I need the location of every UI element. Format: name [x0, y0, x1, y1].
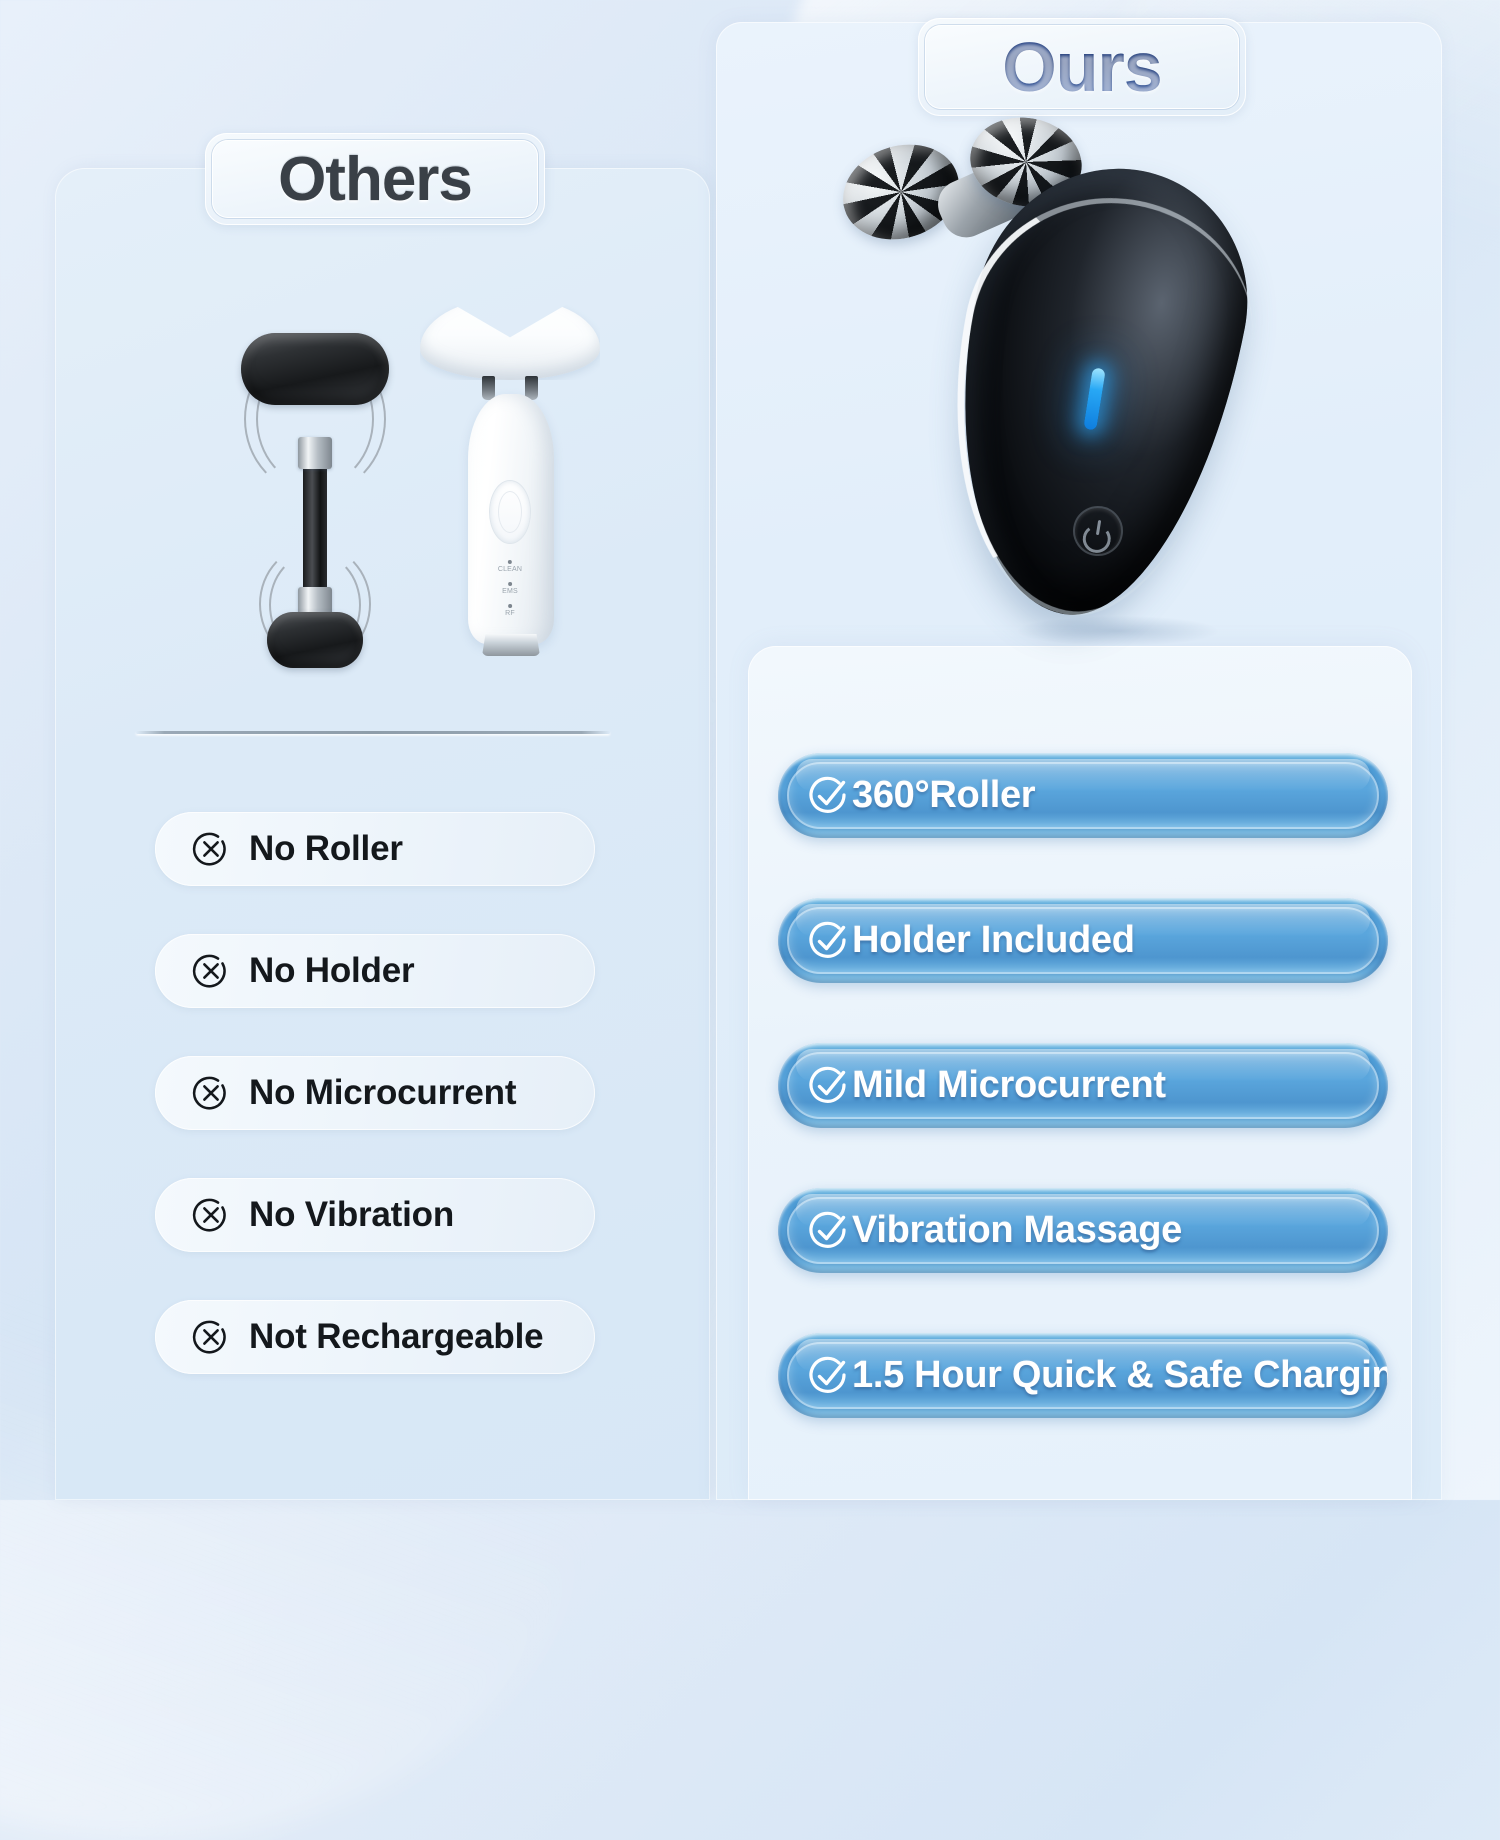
ours-feature-item: Holder Included	[778, 898, 1388, 983]
ours-badge: Ours	[918, 18, 1246, 116]
others-badge-label: Others	[278, 144, 472, 215]
others-feature-label: No Vibration	[249, 1195, 454, 1235]
ours-feature-label: 360°Roller	[852, 774, 1035, 817]
check-circle-icon	[806, 1354, 850, 1398]
ours-feature-label: 1.5 Hour Quick & Safe Charging	[852, 1354, 1388, 1397]
others-feature-item: No Holder	[155, 934, 595, 1008]
ours-feature-item: 1.5 Hour Quick & Safe Charging	[778, 1333, 1388, 1418]
x-circle-icon	[191, 1317, 231, 1357]
neck-massager-indicator-ems: EMS	[502, 582, 518, 595]
indicator-label-ems: EMS	[502, 588, 518, 595]
neck-massager-power-button	[489, 480, 531, 544]
x-circle-icon	[191, 951, 231, 991]
x-circle-icon	[191, 1073, 231, 1113]
check-circle-icon	[806, 1209, 850, 1253]
roller-handle	[303, 447, 327, 609]
others-divider	[136, 731, 610, 734]
others-product-images: CLEAN EMS RF	[55, 280, 710, 700]
indicator-label-rf: RF	[505, 610, 515, 617]
others-feature-label: No Holder	[249, 951, 414, 991]
others-feature-item: No Vibration	[155, 1178, 595, 1252]
others-feature-label: No Microcurrent	[249, 1073, 516, 1113]
others-feature-label: Not Rechargeable	[249, 1317, 543, 1357]
ours-badge-label: Ours	[1002, 27, 1161, 107]
x-circle-icon	[191, 1195, 231, 1235]
ours-feature-list: 360°Roller Holder Included Mild Microcur…	[778, 753, 1388, 1478]
x-circle-icon	[191, 829, 231, 869]
check-circle-icon	[806, 919, 850, 963]
product-drop-shadow	[1018, 616, 1218, 646]
check-circle-icon	[806, 1064, 850, 1108]
white-neck-massager-image: CLEAN EMS RF	[420, 298, 600, 680]
roller-ferrule-top	[298, 437, 332, 469]
ours-feature-item: Vibration Massage	[778, 1188, 1388, 1273]
others-feature-item: No Roller	[155, 812, 595, 886]
others-feature-label: No Roller	[249, 829, 403, 869]
indicator-label-clean: CLEAN	[498, 566, 522, 573]
neck-massager-base	[482, 634, 540, 656]
ours-feature-label: Vibration Massage	[852, 1209, 1182, 1252]
ours-feature-label: Mild Microcurrent	[852, 1064, 1166, 1107]
others-feature-item: Not Rechargeable	[155, 1300, 595, 1374]
others-feature-item: No Microcurrent	[155, 1056, 595, 1130]
ours-product-image	[820, 118, 1270, 658]
neck-massager-indicator-clean: CLEAN	[498, 560, 522, 573]
ours-feature-label: Holder Included	[852, 919, 1135, 962]
neck-massager-indicator-rf: RF	[505, 604, 515, 617]
ours-badge-inner: Ours	[925, 25, 1239, 109]
ours-feature-item: Mild Microcurrent	[778, 1043, 1388, 1128]
others-feature-list: No Roller No Holder No Microcurrent No V…	[155, 812, 595, 1422]
check-circle-icon	[806, 774, 850, 818]
black-jade-roller-image	[225, 325, 405, 670]
roller-head-large	[241, 333, 389, 405]
others-badge-inner: Others	[212, 140, 538, 218]
neck-massager-v-head	[420, 298, 600, 380]
others-badge: Others	[205, 133, 545, 225]
roller-head-small	[267, 612, 363, 668]
ours-feature-item: 360°Roller	[778, 753, 1388, 838]
